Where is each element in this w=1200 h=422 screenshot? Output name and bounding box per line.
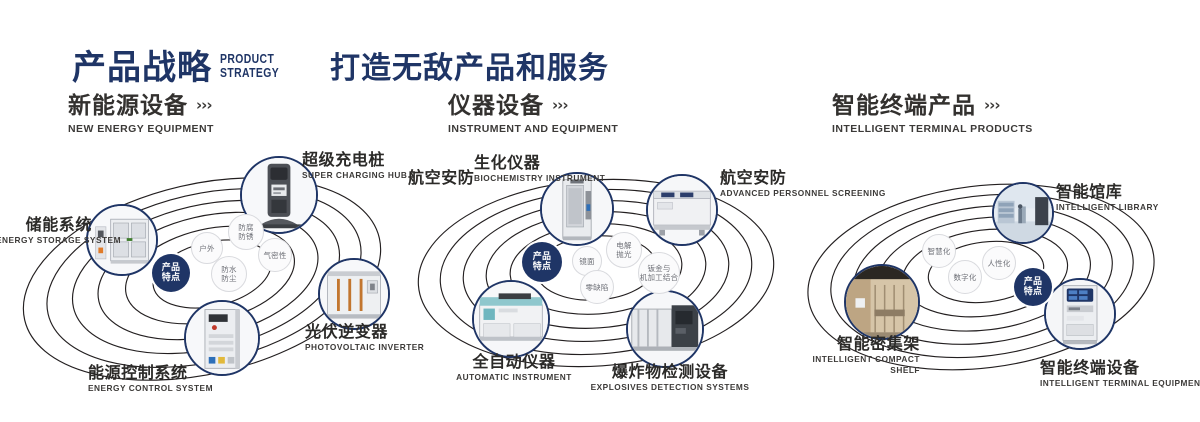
product-circle-screening-machine[interactable] — [646, 174, 718, 246]
section-heading-cn: 智能终端产品››› — [832, 92, 1033, 119]
label-en: SUPER CHARGING HUB — [302, 170, 407, 181]
label-aviation-security-left: 航空安防 — [408, 168, 474, 187]
feature-bubble-electropolishing: 电解 抛光 — [606, 232, 642, 268]
label-cn: 全自动仪器 — [434, 352, 594, 371]
page-title-english: PRODUCT STRATEGY — [220, 52, 279, 79]
feature-bubble-label: 零缺陷 — [585, 283, 608, 292]
label-intelligent-compact-shelf: 智能密集架 INTELLIGENT COMPACT SHELF — [810, 334, 920, 376]
section-heading-cn-text: 新能源设备 — [68, 93, 188, 119]
section-heading-new-energy: 新能源设备››› NEW ENERGY EQUIPMENT — [68, 92, 214, 135]
label-cn: 储能系统 — [0, 215, 92, 234]
feature-bubble-label-line2: 防锈 — [238, 232, 253, 241]
label-intelligent-library: 智能馆库 INTELLIGENT LIBRARY — [1056, 182, 1159, 213]
label-en: INTELLIGENT TERMINAL EQUIPMENT — [1040, 378, 1200, 389]
feature-bubble-label-line1: 电解 — [616, 241, 631, 250]
feature-core-bubble[interactable]: 产品 特点 — [1014, 268, 1052, 306]
feature-bubble-anticorrosion: 防腐 防锈 — [228, 214, 264, 250]
page-title-english-line2: STRATEGY — [220, 66, 279, 80]
product-circle-self-service-kiosk[interactable] — [1044, 278, 1116, 350]
label-automatic-instrument: 全自动仪器 AUTOMATIC INSTRUMENT — [434, 352, 594, 383]
section-heading-cn-text: 智能终端产品 — [832, 93, 976, 119]
label-biochemistry-instrument: 生化仪器 BIOCHEMISTRY INSTRUMENT — [474, 153, 564, 184]
page-title-english-line1: PRODUCT — [220, 52, 279, 66]
product-circle-explosives-detector[interactable] — [626, 290, 704, 368]
label-intelligent-terminal-equipment: 智能终端设备 INTELLIGENT TERMINAL EQUIPMENT — [1040, 358, 1200, 389]
feature-core-bubble[interactable]: 产品 特点 — [522, 242, 562, 282]
label-energy-control-system: 能源控制系统 ENERGY CONTROL SYSTEM — [88, 363, 213, 394]
label-en: ENERGY CONTROL SYSTEM — [88, 383, 213, 394]
label-cn: 超级充电桩 — [302, 150, 407, 169]
feature-bubble-label-line2: 机加工结合 — [640, 273, 679, 282]
feature-core-line2: 特点 — [533, 262, 551, 273]
feature-core-line1: 产品 — [162, 263, 180, 274]
product-circle-compact-shelf[interactable] — [844, 264, 920, 340]
page-header: 产品战略 PRODUCT STRATEGY 打造无敌产品和服务 — [0, 22, 1200, 78]
section-heading-en: INSTRUMENT AND EQUIPMENT — [448, 123, 618, 135]
feature-bubble-humanized: 人性化 — [982, 246, 1016, 280]
library-room-photo-icon — [994, 184, 1052, 242]
explosives-detector-icon — [628, 292, 702, 366]
page-title: 产品战略 — [72, 48, 212, 88]
feature-bubble-label: 数字化 — [953, 273, 976, 282]
feature-bubble-label: 人性化 — [987, 259, 1010, 268]
feature-core-line2: 特点 — [162, 273, 180, 284]
label-en: EXPLOSIVES DETECTION SYSTEMS — [580, 382, 760, 393]
feature-bubble-label: 气密性 — [263, 251, 286, 260]
feature-core-line1: 产品 — [1024, 277, 1042, 288]
section-heading-instrument: 仪器设备››› INSTRUMENT AND EQUIPMENT — [448, 92, 618, 135]
biochemistry-analyzer-icon — [542, 174, 612, 244]
feature-bubble-airtightness: 气密性 — [258, 238, 292, 272]
chevrons-right-icon: ››› — [196, 92, 212, 118]
label-explosives-detection-systems: 爆炸物检测设备 EXPLOSIVES DETECTION SYSTEMS — [580, 362, 760, 393]
label-en: INTELLIGENT LIBRARY — [1056, 202, 1159, 213]
feature-bubble-intelligent: 智慧化 — [922, 234, 956, 268]
label-en: BIOCHEMISTRY INSTRUMENT — [474, 173, 564, 184]
diagram-new-energy: 产品 特点 户外 防腐 防锈 防水 防尘 气密性 储能系统 ENERGY STO… — [0, 150, 420, 412]
automatic-instrument-icon — [474, 282, 548, 356]
feature-core-bubble[interactable]: 产品 特点 — [152, 254, 190, 292]
label-en: ENERGY STORAGE SYSTEM — [0, 235, 92, 246]
product-circle-automatic-instrument[interactable] — [472, 280, 550, 358]
feature-bubble-label-line1: 防水 — [221, 265, 236, 274]
feature-bubble-sheetmetal-machining: 钣金与 机加工结合 — [638, 252, 680, 294]
section-heading-en: INTELLIGENT TERMINAL PRODUCTS — [832, 123, 1033, 135]
label-cn: 智能终端设备 — [1040, 358, 1200, 377]
diagram-intelligent-terminal: 产品 特点 智慧化 数字化 人性化 智能馆库 INTELLIGENT LIBRA… — [790, 150, 1200, 412]
feature-bubble-zero-defect: 零缺陷 — [580, 270, 614, 304]
section-heading-en: NEW ENERGY EQUIPMENT — [68, 123, 214, 135]
chevrons-right-icon: ››› — [552, 92, 568, 118]
chevrons-right-icon: ››› — [984, 92, 1000, 118]
feature-bubble-label: 镜面 — [579, 257, 594, 266]
label-cn: 能源控制系统 — [88, 363, 213, 382]
label-cn: 智能密集架 — [810, 334, 920, 353]
product-strategy-infographic: 产品战略 PRODUCT STRATEGY 打造无敌产品和服务 新能源设备›››… — [0, 0, 1200, 422]
label-cn: 生化仪器 — [474, 153, 564, 172]
page-subtitle: 打造无敌产品和服务 — [330, 50, 609, 88]
product-circle-pv-inverter[interactable] — [318, 258, 390, 330]
diagram-instrument: 产品 特点 镜面 电解 抛光 零缺陷 钣金与 机加工结合 航空安防 生化仪器 B… — [400, 150, 820, 412]
pv-inverter-cabinet-icon — [320, 260, 388, 328]
label-en: AUTOMATIC INSTRUMENT — [434, 372, 594, 383]
label-en: INTELLIGENT COMPACT SHELF — [810, 354, 920, 376]
self-service-kiosk-icon — [1046, 280, 1114, 348]
section-heading-intelligent-terminal: 智能终端产品››› INTELLIGENT TERMINAL PRODUCTS — [832, 92, 1033, 135]
compact-shelf-photo-icon — [846, 266, 918, 338]
section-heading-cn: 新能源设备››› — [68, 92, 214, 119]
section-heading-cn: 仪器设备››› — [448, 92, 618, 119]
feature-bubble-waterproof: 防水 防尘 — [211, 256, 247, 292]
label-cn: 爆炸物检测设备 — [580, 362, 760, 381]
feature-core-line1: 产品 — [533, 252, 551, 263]
screening-machine-icon — [648, 176, 716, 244]
feature-bubble-label-line1: 钣金与 — [647, 264, 670, 273]
feature-bubble-label-line1: 防腐 — [238, 223, 253, 232]
feature-bubble-label: 户外 — [199, 244, 214, 253]
feature-bubble-label-line2: 抛光 — [616, 250, 631, 259]
section-heading-cn-text: 仪器设备 — [448, 93, 544, 119]
label-cn: 智能馆库 — [1056, 182, 1159, 201]
feature-core-line2: 特点 — [1024, 287, 1042, 298]
label-energy-storage-system: 储能系统 ENERGY STORAGE SYSTEM — [0, 215, 92, 246]
label-super-charging-hub: 超级充电桩 SUPER CHARGING HUB — [302, 150, 407, 181]
feature-bubble-label-line2: 防尘 — [221, 274, 236, 283]
feature-bubble-label: 智慧化 — [927, 247, 950, 256]
product-circle-library-room[interactable] — [992, 182, 1054, 244]
feature-bubble-digital: 数字化 — [948, 260, 982, 294]
label-cn: 航空安防 — [408, 168, 474, 187]
